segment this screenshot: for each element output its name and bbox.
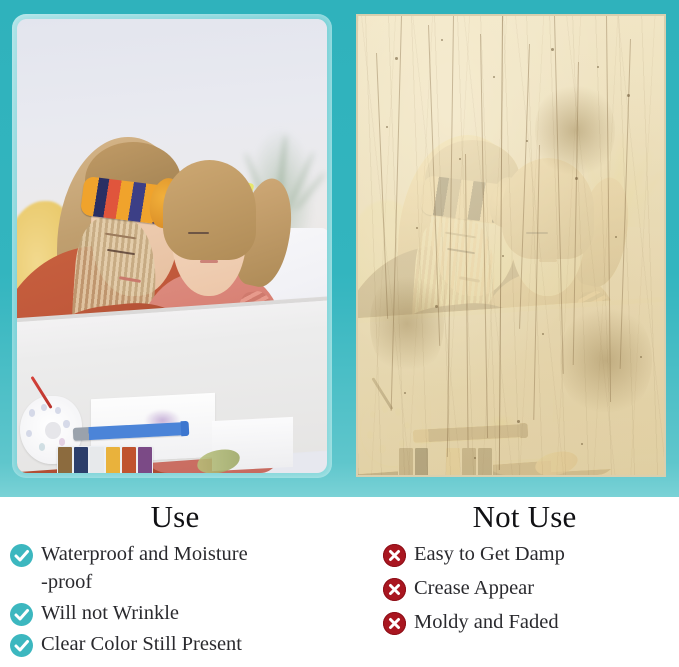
watercolor-paint-box xyxy=(57,446,153,473)
list-item: Clear Color Still Present xyxy=(10,630,340,658)
list-item-line2: -proof xyxy=(41,571,92,593)
check-circle-icon xyxy=(10,603,33,626)
x-circle-icon xyxy=(383,578,406,601)
use-list: Waterproof and Moisture -proof Will not … xyxy=(0,540,340,658)
list-item: Crease Appear xyxy=(383,574,679,602)
use-heading: Use xyxy=(0,497,340,537)
list-item: Waterproof and Moisture -proof xyxy=(10,540,340,596)
photo-comparison-panel xyxy=(0,0,679,497)
check-circle-icon xyxy=(10,634,33,657)
check-circle-icon xyxy=(10,544,33,567)
good-photo-frame xyxy=(12,14,332,478)
list-item-label: Clear Color Still Present xyxy=(41,630,242,658)
mold-stain-2 xyxy=(370,268,443,378)
list-item-label: Crease Appear xyxy=(414,574,534,602)
list-item: Will not Wrinkle xyxy=(10,599,340,627)
damaged-photo xyxy=(358,16,664,475)
list-item-label: Easy to Get Damp xyxy=(414,540,565,568)
list-item-line1: Waterproof and Moisture xyxy=(41,543,248,565)
x-circle-icon xyxy=(383,544,406,567)
x-circle-icon xyxy=(383,612,406,635)
child-mouth xyxy=(200,260,219,263)
mold-stain-1 xyxy=(535,80,615,181)
child-hair xyxy=(163,160,256,260)
damaged-photo-frame xyxy=(356,14,666,477)
not-use-heading: Not Use xyxy=(340,497,679,537)
comparison-graphic: Use Waterproof and Moisture -proof xyxy=(0,0,679,667)
use-column: Use Waterproof and Moisture -proof xyxy=(0,497,340,667)
list-item-label: Waterproof and Moisture -proof xyxy=(41,540,248,596)
comparison-lists: Use Waterproof and Moisture -proof xyxy=(0,497,679,667)
good-condition-photo xyxy=(17,19,327,473)
list-item: Moldy and Faded xyxy=(383,608,679,636)
list-item: Easy to Get Damp xyxy=(383,540,679,568)
list-item-label: Will not Wrinkle xyxy=(41,599,179,627)
not-use-list: Easy to Get Damp Crease Appear xyxy=(340,540,679,636)
list-item-label: Moldy and Faded xyxy=(414,608,559,636)
mold-stain-3 xyxy=(560,301,652,420)
not-use-column: Not Use Easy to Get Damp xyxy=(340,497,679,667)
